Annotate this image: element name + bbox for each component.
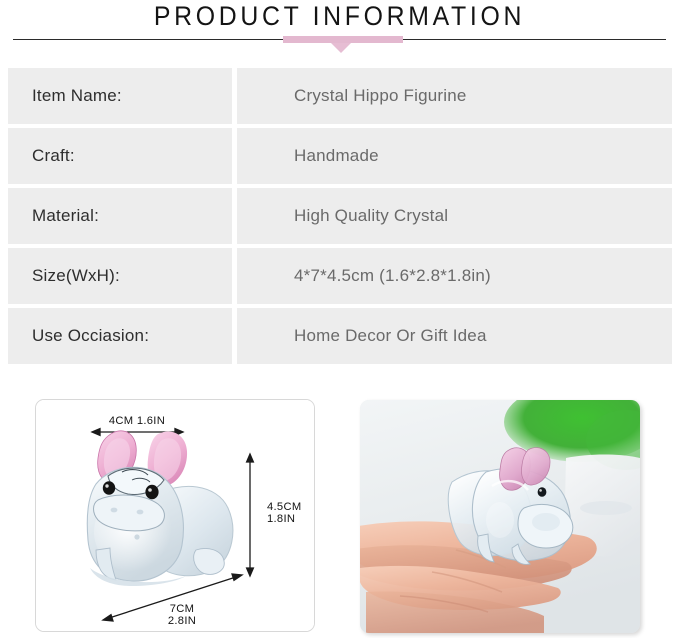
spec-value: Home Decor Or Gift Idea <box>237 308 672 364</box>
height-dimension-label-line1: 4.5CM <box>267 501 301 513</box>
spec-label: Use Occiasion: <box>8 308 232 364</box>
spec-value: Handmade <box>237 128 672 184</box>
hippo-eye-left-icon <box>103 481 115 495</box>
spec-label: Material: <box>8 188 232 244</box>
dimension-diagram-image: 4CM 1.6IN 4.5CM 1.8IN 7CM 2.8IN <box>36 400 314 631</box>
hippo-eye-right-icon <box>145 485 158 499</box>
lifestyle-photo-card <box>360 400 640 633</box>
table-row: Use Occiasion: Home Decor Or Gift Idea <box>8 308 672 364</box>
product-spec-table: Item Name: Crystal Hippo Figurine Craft:… <box>8 68 672 364</box>
lifestyle-photo-image <box>360 400 640 633</box>
spec-value: 4*7*4.5cm (1.6*2.8*1.8in) <box>237 248 672 304</box>
header-accent-triangle-icon <box>331 43 351 53</box>
table-row: Item Name: Crystal Hippo Figurine <box>8 68 672 124</box>
header-accent-bar <box>283 36 403 43</box>
table-row: Craft: Handmade <box>8 128 672 184</box>
depth-dimension-label-line1: 7CM <box>170 603 195 615</box>
spec-value: Crystal Hippo Figurine <box>237 68 672 124</box>
spec-label: Size(WxH): <box>8 248 232 304</box>
hippo-eye-icon <box>538 487 547 497</box>
spec-value: High Quality Crystal <box>237 188 672 244</box>
spec-label: Item Name: <box>8 68 232 124</box>
height-dimension-label-line2: 1.8IN <box>267 513 295 525</box>
depth-dimension-label-line2: 2.8IN <box>168 615 196 627</box>
page-header: PRODUCT INFORMATION <box>0 0 679 60</box>
dimension-diagram-card: 4CM 1.6IN 4.5CM 1.8IN 7CM 2.8IN <box>35 399 315 632</box>
table-row: Size(WxH): 4*7*4.5cm (1.6*2.8*1.8in) <box>8 248 672 304</box>
width-dimension-label: 4CM 1.6IN <box>109 415 165 427</box>
table-row: Material: High Quality Crystal <box>8 188 672 244</box>
page-title: PRODUCT INFORMATION <box>27 1 652 32</box>
spec-label: Craft: <box>8 128 232 184</box>
product-image-row: 4CM 1.6IN 4.5CM 1.8IN 7CM 2.8IN <box>0 399 679 638</box>
